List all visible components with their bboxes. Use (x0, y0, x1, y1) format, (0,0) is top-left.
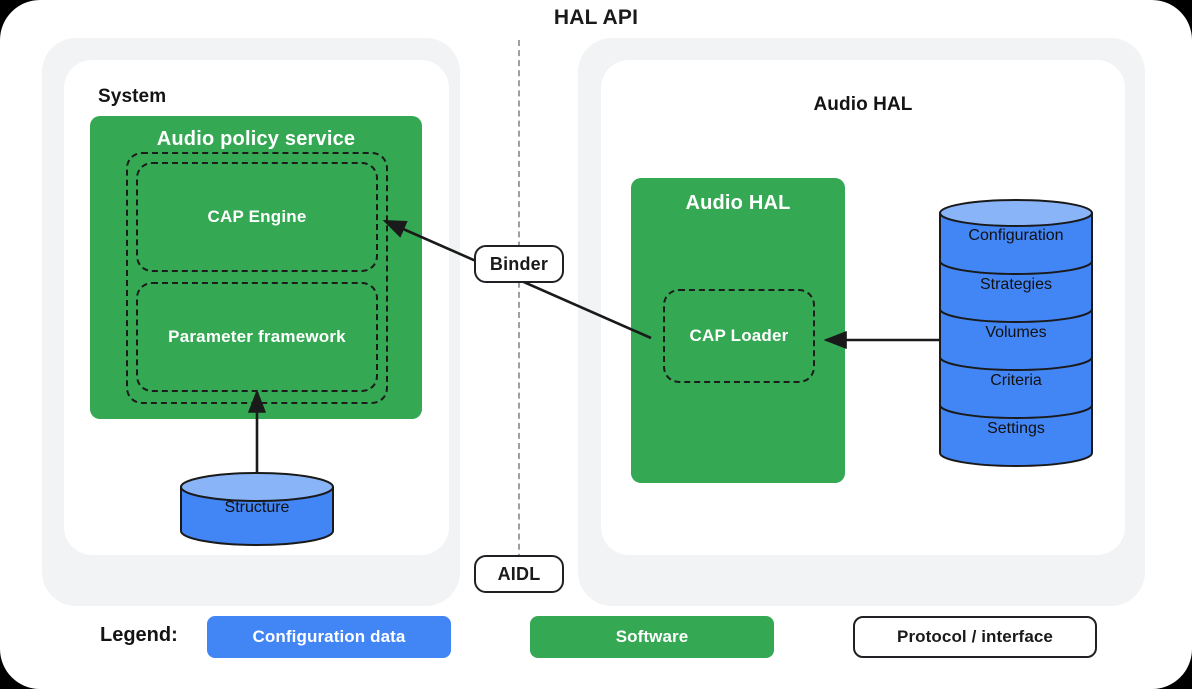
protocol-pill-binder[interactable]: Binder (474, 245, 564, 283)
legend: Legend: Configuration data Software Prot… (0, 612, 1192, 672)
legend-chip-configuration-data: Configuration data (207, 616, 451, 658)
audio-hal-block[interactable]: Audio HAL CAP Loader (631, 178, 845, 483)
audio-policy-service-block[interactable]: Audio policy service CAP Engine Paramete… (90, 116, 422, 419)
cylinder-segment-label-configuration: Configuration (939, 227, 1093, 245)
protocol-pill-aidl[interactable]: AIDL (474, 555, 564, 593)
cap-loader-label: CAP Loader (665, 326, 813, 346)
legend-chip-software: Software (530, 616, 774, 658)
cylinder-segment-label-volumes: Volumes (939, 324, 1093, 342)
cap-loader-block[interactable]: CAP Loader (663, 289, 815, 383)
cap-engine-label: CAP Engine (138, 207, 376, 227)
system-heading: System (98, 86, 166, 108)
audio-hal-heading: Audio HAL (601, 94, 1125, 116)
cylinder-segment-label-settings: Settings (939, 420, 1093, 438)
audio-policy-service-title: Audio policy service (90, 128, 422, 151)
cylinder-segment-label-criteria: Criteria (939, 372, 1093, 390)
configuration-datastore-cylinder[interactable]: Configuration Strategies Volumes Criteri… (939, 198, 1093, 468)
legend-label: Legend: (100, 624, 178, 647)
cylinder-segment-label-strategies: Strategies (939, 276, 1093, 294)
parameter-framework-label: Parameter framework (138, 327, 376, 347)
audio-hal-block-title: Audio HAL (631, 192, 845, 215)
diagram-canvas: HAL API System Audio HAL Audio policy se… (0, 0, 1192, 689)
parameter-framework-block[interactable]: Parameter framework (136, 282, 378, 392)
legend-chip-protocol-interface: Protocol / interface (853, 616, 1097, 658)
cap-engine-block[interactable]: CAP Engine (136, 162, 378, 272)
structure-label: Structure (180, 499, 334, 517)
hal-api-divider-line (518, 40, 520, 590)
structure-datastore-cylinder[interactable]: Structure (180, 472, 334, 546)
page-title: HAL API (0, 6, 1192, 30)
